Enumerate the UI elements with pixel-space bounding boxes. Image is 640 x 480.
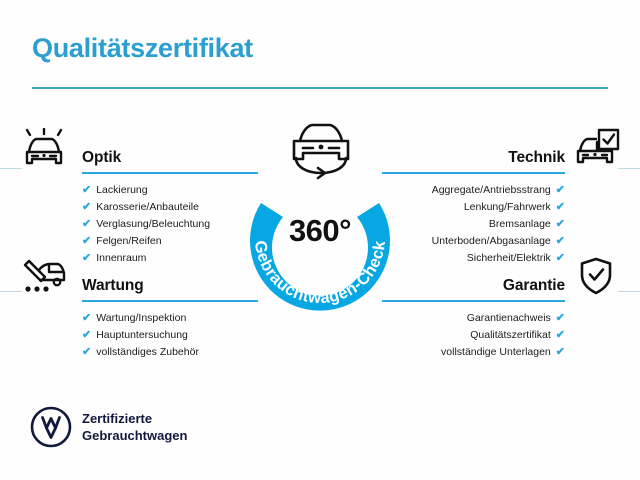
list-item: ✔Verglasung/Beleuchtung [82, 216, 240, 233]
list-item-label: Lenkung/Fahrwerk [464, 201, 551, 213]
shield-check-icon [572, 256, 620, 298]
certificate-page: Qualitätszertifikat Optik [0, 0, 640, 480]
check-icon: ✔ [556, 233, 565, 250]
list-item: Qualitätszertifikat✔ [400, 327, 565, 344]
footer-text: Zertifizierte Gebrauchtwagen [82, 410, 187, 444]
check-icon: ✔ [82, 327, 91, 344]
check-icon: ✔ [82, 233, 91, 250]
section-technik-header: Technik [400, 128, 620, 174]
page-title: Qualitätszertifikat [32, 33, 253, 64]
grid-dash-right-lower [618, 291, 640, 292]
section-technik-title: Technik [508, 149, 565, 167]
list-item-label: Verglasung/Beleuchtung [96, 218, 210, 230]
footer-line-1: Zertifizierte [82, 410, 187, 427]
list-item: Unterboden/Abgasanlage✔ [400, 233, 565, 250]
section-garantie-list: Garantienachweis✔ Qualitätszertifikat✔ v… [400, 310, 620, 361]
check-icon: ✔ [82, 182, 91, 199]
section-optik: Optik ✔Lackierung ✔Karosserie/Anbauteile… [20, 128, 240, 267]
list-item-label: Bremsanlage [489, 218, 551, 230]
list-item-label: Unterboden/Abgasanlage [432, 235, 551, 247]
list-item-label: Karosserie/Anbauteile [96, 201, 199, 213]
list-item: ✔Hauptuntersuchung [82, 327, 240, 344]
check-icon: ✔ [82, 310, 91, 327]
list-item: ✔Felgen/Reifen [82, 233, 240, 250]
check-icon: ✔ [556, 199, 565, 216]
section-wartung-underline [82, 300, 258, 302]
list-item: ✔Wartung/Inspektion [82, 310, 240, 327]
section-wartung-title: Wartung [82, 277, 144, 295]
section-garantie: Garantie Garantienachweis✔ Qualitätszert… [400, 256, 620, 361]
check-icon: ✔ [556, 310, 565, 327]
section-technik-underline [382, 172, 565, 174]
car-checkbox-icon [572, 128, 620, 170]
list-item: Garantienachweis✔ [400, 310, 565, 327]
list-item-label: vollständige Unterlagen [441, 346, 551, 358]
grid-dash-right-upper [618, 168, 640, 169]
section-garantie-title: Garantie [503, 277, 565, 295]
list-item: vollständige Unterlagen✔ [400, 344, 565, 361]
grid-dash-left-lower [0, 291, 22, 292]
car-front-rotation-icon [276, 118, 364, 182]
check-icon: ✔ [82, 216, 91, 233]
list-item-label: vollständiges Zubehör [96, 346, 199, 358]
section-optik-title: Optik [82, 149, 121, 167]
list-item: Lenkung/Fahrwerk✔ [400, 199, 565, 216]
check-icon: ✔ [82, 344, 91, 361]
list-item: ✔Karosserie/Anbauteile [82, 199, 240, 216]
header-divider [32, 87, 608, 89]
wrench-car-service-icon [20, 256, 68, 298]
list-item-label: Garantienachweis [467, 312, 551, 324]
list-item-label: Qualitätszertifikat [470, 329, 551, 341]
section-wartung: Wartung ✔Wartung/Inspektion ✔Hauptunters… [20, 256, 240, 361]
list-item: ✔Lackierung [82, 182, 240, 199]
footer-line-2: Gebrauchtwagen [82, 427, 187, 444]
badge-center-label: 360° [237, 213, 403, 249]
section-wartung-header: Wartung [20, 256, 240, 302]
section-technik-list: Aggregate/Antriebsstrang✔ Lenkung/Fahrwe… [400, 182, 620, 267]
list-item-label: Felgen/Reifen [96, 235, 161, 247]
check-icon: ✔ [556, 182, 565, 199]
volkswagen-logo [30, 406, 72, 448]
section-technik: Technik Aggregate/Antriebsstrang✔ Lenkun… [400, 128, 620, 267]
grid-dash-left-upper [0, 168, 22, 169]
list-item-label: Hauptuntersuchung [96, 329, 188, 341]
check-icon: ✔ [556, 344, 565, 361]
list-item-label: Wartung/Inspektion [96, 312, 186, 324]
section-optik-header: Optik [20, 128, 240, 174]
list-item: ✔vollständiges Zubehör [82, 344, 240, 361]
list-item-label: Aggregate/Antriebsstrang [432, 184, 551, 196]
check-icon: ✔ [556, 216, 565, 233]
section-wartung-list: ✔Wartung/Inspektion ✔Hauptuntersuchung ✔… [20, 310, 240, 361]
check-icon: ✔ [556, 327, 565, 344]
section-optik-list: ✔Lackierung ✔Karosserie/Anbauteile ✔Verg… [20, 182, 240, 267]
list-item-label: Lackierung [96, 184, 147, 196]
car-shine-icon [20, 128, 68, 170]
list-item: Aggregate/Antriebsstrang✔ [400, 182, 565, 199]
section-optik-underline [82, 172, 258, 174]
section-garantie-underline [382, 300, 565, 302]
check-icon: ✔ [82, 199, 91, 216]
section-garantie-header: Garantie [400, 256, 620, 302]
list-item: Bremsanlage✔ [400, 216, 565, 233]
